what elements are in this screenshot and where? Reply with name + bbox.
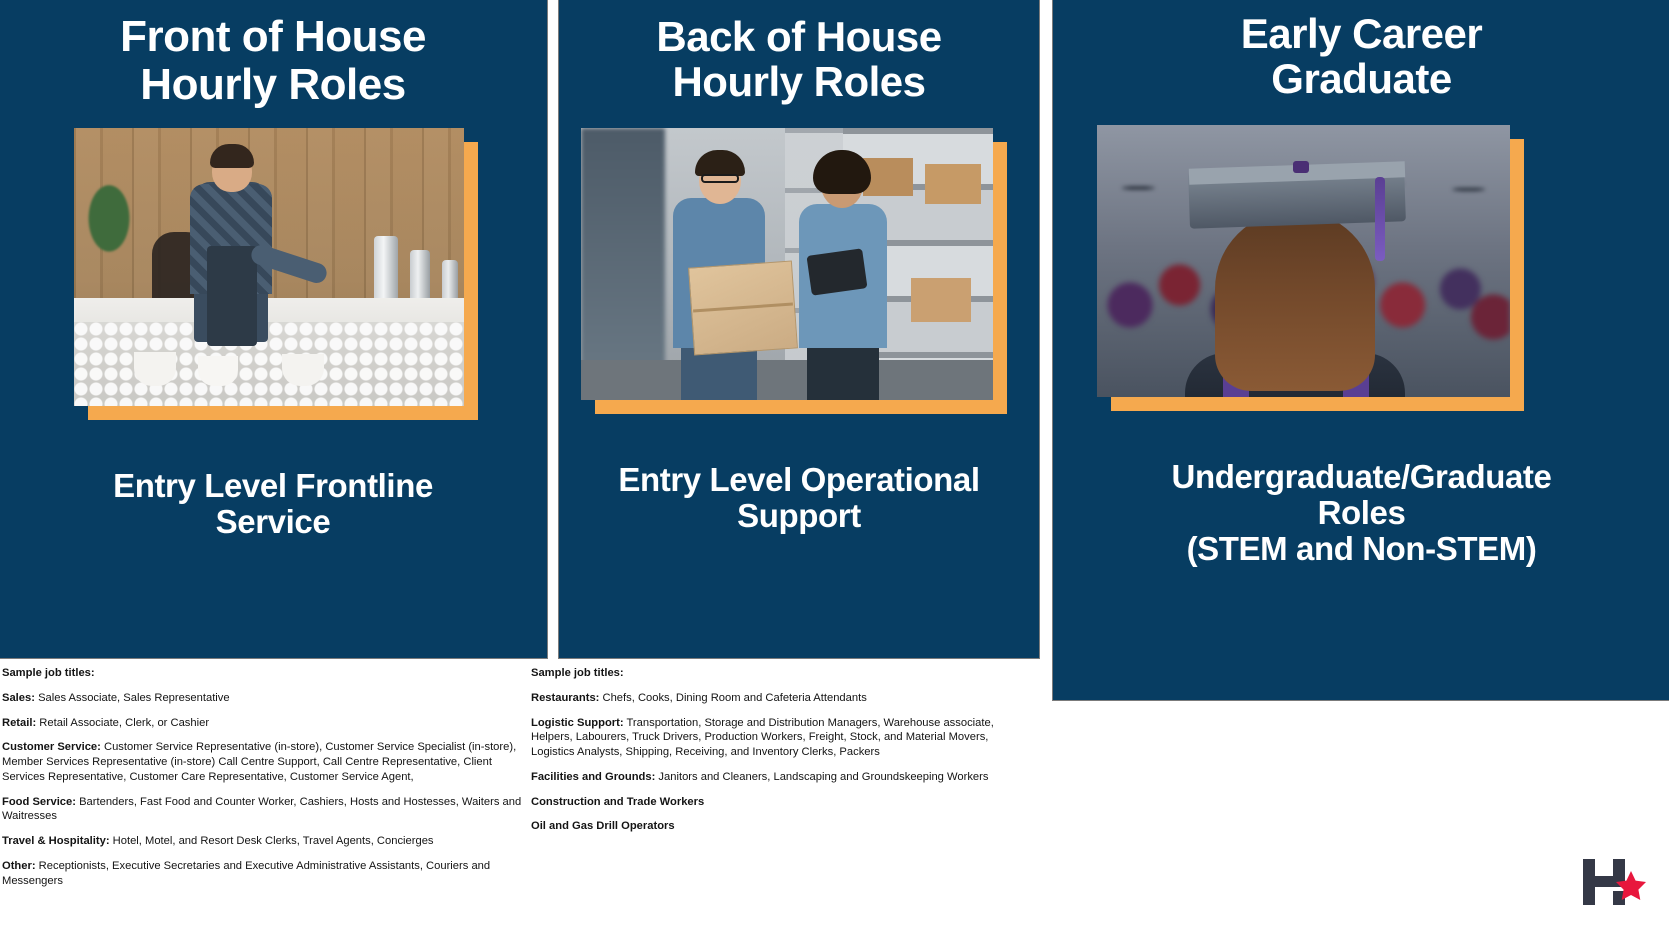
job-entry-text: Retail Associate, Clerk, or Cashier — [36, 717, 209, 729]
panel-title-front-of-house: Front of House Hourly Roles — [0, 13, 547, 108]
job-titles-front-of-house: Sample job titles: Sales: Sales Associat… — [2, 666, 522, 899]
photo-image-barista — [74, 128, 464, 406]
panel-subtitle-line-3: (STEM and Non-STEM) — [1103, 531, 1620, 567]
photo-early-career-graduate — [1097, 125, 1510, 397]
panel-subtitle-early-career-graduate: Undergraduate/Graduate Roles (STEM and N… — [1053, 459, 1669, 568]
panel-subtitle-line-1: Entry Level Operational — [599, 462, 999, 498]
job-entry: Retail: Retail Associate, Clerk, or Cash… — [2, 716, 522, 731]
job-entry-label: Food Service: — [2, 796, 76, 808]
job-list-heading: Sample job titles: — [2, 666, 522, 681]
photo-image-graduate — [1097, 125, 1510, 397]
job-entry: Facilities and Grounds: Janitors and Cle… — [531, 770, 1031, 785]
panel-subtitle-line-2: Roles — [1103, 495, 1620, 531]
photo-front-of-house — [74, 128, 464, 406]
job-entry: Sales: Sales Associate, Sales Representa… — [2, 691, 522, 706]
panel-title-early-career-graduate: Early Career Graduate — [1053, 11, 1669, 102]
job-entry: Travel & Hospitality: Hotel, Motel, and … — [2, 834, 522, 849]
job-list-heading: Sample job titles: — [531, 666, 1031, 681]
job-entry-label: Construction and Trade Workers — [531, 796, 704, 808]
infographic-board: Front of House Hourly Roles — [0, 0, 1669, 935]
job-entry-text: Hotel, Motel, and Resort Desk Clerks, Tr… — [110, 835, 434, 847]
panel-title-line-1: Early Career — [1053, 11, 1669, 56]
panel-title-back-of-house: Back of House Hourly Roles — [559, 14, 1039, 105]
job-entry-text: Sales Associate, Sales Representative — [35, 692, 230, 704]
panel-subtitle-line-2: Support — [599, 498, 999, 534]
job-entry-label: Retail: — [2, 717, 36, 729]
job-entry-label: Restaurants: — [531, 692, 599, 704]
job-entry: Oil and Gas Drill Operators — [531, 819, 1031, 834]
panel-subtitle-front-of-house: Entry Level Frontline Service — [0, 468, 547, 541]
panel-early-career-graduate: Early Career Graduate Undergraduate/Grad… — [1052, 0, 1669, 701]
job-titles-back-of-house: Sample job titles: Restaurants: Chefs, C… — [531, 666, 1031, 844]
panel-front-of-house: Front of House Hourly Roles — [0, 0, 548, 659]
job-entry-label: Customer Service: — [2, 741, 101, 753]
panel-subtitle-back-of-house: Entry Level Operational Support — [559, 462, 1039, 535]
job-entry-text: Chefs, Cooks, Dining Room and Cafeteria … — [599, 692, 866, 704]
panel-back-of-house: Back of House Hourly Roles — [558, 0, 1040, 659]
job-entry-label: Facilities and Grounds: — [531, 771, 655, 783]
job-entry-text: Receptionists, Executive Secretaries and… — [2, 860, 490, 887]
panel-title-line-1: Back of House — [559, 14, 1039, 59]
job-entry-text: Janitors and Cleaners, Landscaping and G… — [655, 771, 988, 783]
job-entry-label: Other: — [2, 860, 36, 872]
photo-image-warehouse-workers — [581, 128, 993, 400]
job-entry: Customer Service: Customer Service Repre… — [2, 740, 522, 784]
job-entry: Food Service: Bartenders, Fast Food and … — [2, 795, 522, 825]
panel-subtitle-line-2: Service — [39, 504, 507, 540]
job-entry-text: Bartenders, Fast Food and Counter Worker… — [2, 796, 521, 823]
job-entry: Other: Receptionists, Executive Secretar… — [2, 859, 522, 889]
panel-title-line-2: Graduate — [1053, 56, 1669, 101]
job-list-heading-text: Sample job titles: — [531, 667, 624, 679]
panel-subtitle-line-1: Entry Level Frontline — [39, 468, 507, 504]
panel-title-line-2: Hourly Roles — [559, 59, 1039, 104]
job-entry-label: Travel & Hospitality: — [2, 835, 110, 847]
panel-title-line-2: Hourly Roles — [0, 61, 547, 109]
job-entry-label: Sales: — [2, 692, 35, 704]
job-entry: Construction and Trade Workers — [531, 795, 1031, 810]
h-star-logo — [1569, 847, 1647, 917]
panel-title-line-1: Front of House — [0, 13, 547, 61]
panel-subtitle-line-1: Undergraduate/Graduate — [1103, 459, 1620, 495]
job-entry: Logistic Support: Transportation, Storag… — [531, 716, 1031, 760]
job-list-heading-text: Sample job titles: — [2, 667, 95, 679]
photo-back-of-house — [581, 128, 993, 400]
job-entry: Restaurants: Chefs, Cooks, Dining Room a… — [531, 691, 1031, 706]
job-entry-label: Oil and Gas Drill Operators — [531, 820, 675, 832]
job-entry-label: Logistic Support: — [531, 717, 624, 729]
